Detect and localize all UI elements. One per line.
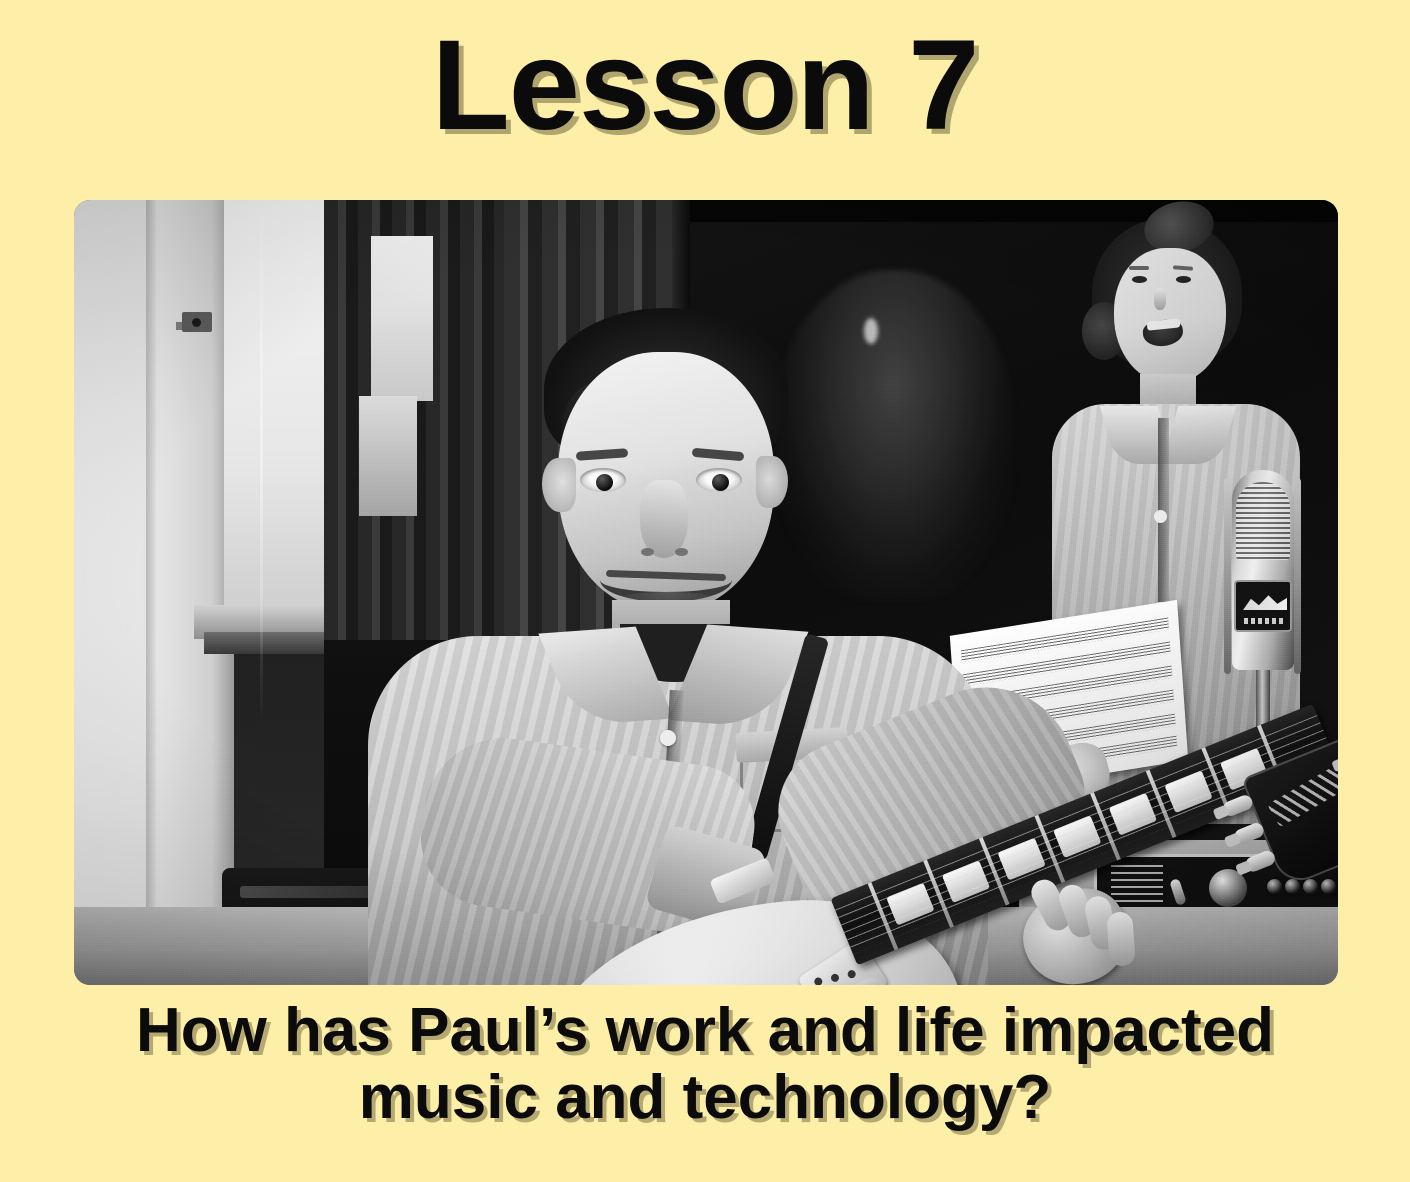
mic-yoke-left [1224,478,1231,674]
guitarist-nostril-right [675,548,688,556]
fretting-hand [1024,878,1144,985]
guitarist-pupil-right [712,474,729,491]
mic-grille [1236,482,1290,560]
lesson-slide: Lesson 7 [0,0,1410,1182]
singer-brow-left [1129,266,1149,270]
singer-eye-left [1132,276,1147,283]
finger [1106,911,1136,967]
guitar-neck-pickup [709,857,776,904]
mic-yoke-right [1294,478,1301,674]
singer-eye-right [1176,276,1191,283]
pickup-pole [829,972,840,983]
film-scratch [260,200,263,720]
electric-guitar [544,860,1338,985]
guitarist-ear-left [542,458,576,512]
guitarist-pupil-left [596,474,613,491]
lesson-question-line-1: How has Paul’s work and life impacted [55,998,1355,1065]
singer-button-upper [1154,510,1167,523]
guitarist-nose [640,480,688,558]
wall-fixture [182,312,212,332]
guitarist-shirt-button [660,730,676,746]
singer-nose [1154,288,1166,310]
photo-scene [74,200,1338,985]
page-title: Lesson 7 [0,22,1410,150]
pickup-pole [813,976,824,985]
guitarist-nostril-left [641,548,654,556]
pickup-pole [846,969,857,980]
mic-badge [1234,580,1292,632]
lesson-question: How has Paul’s work and life impacted mu… [55,998,1355,1132]
lesson-question-line-2: music and technology? [55,1065,1355,1132]
guitarist-ear-right [756,456,788,508]
lesson-photo [74,200,1338,985]
mic-badge-text [1244,618,1286,624]
